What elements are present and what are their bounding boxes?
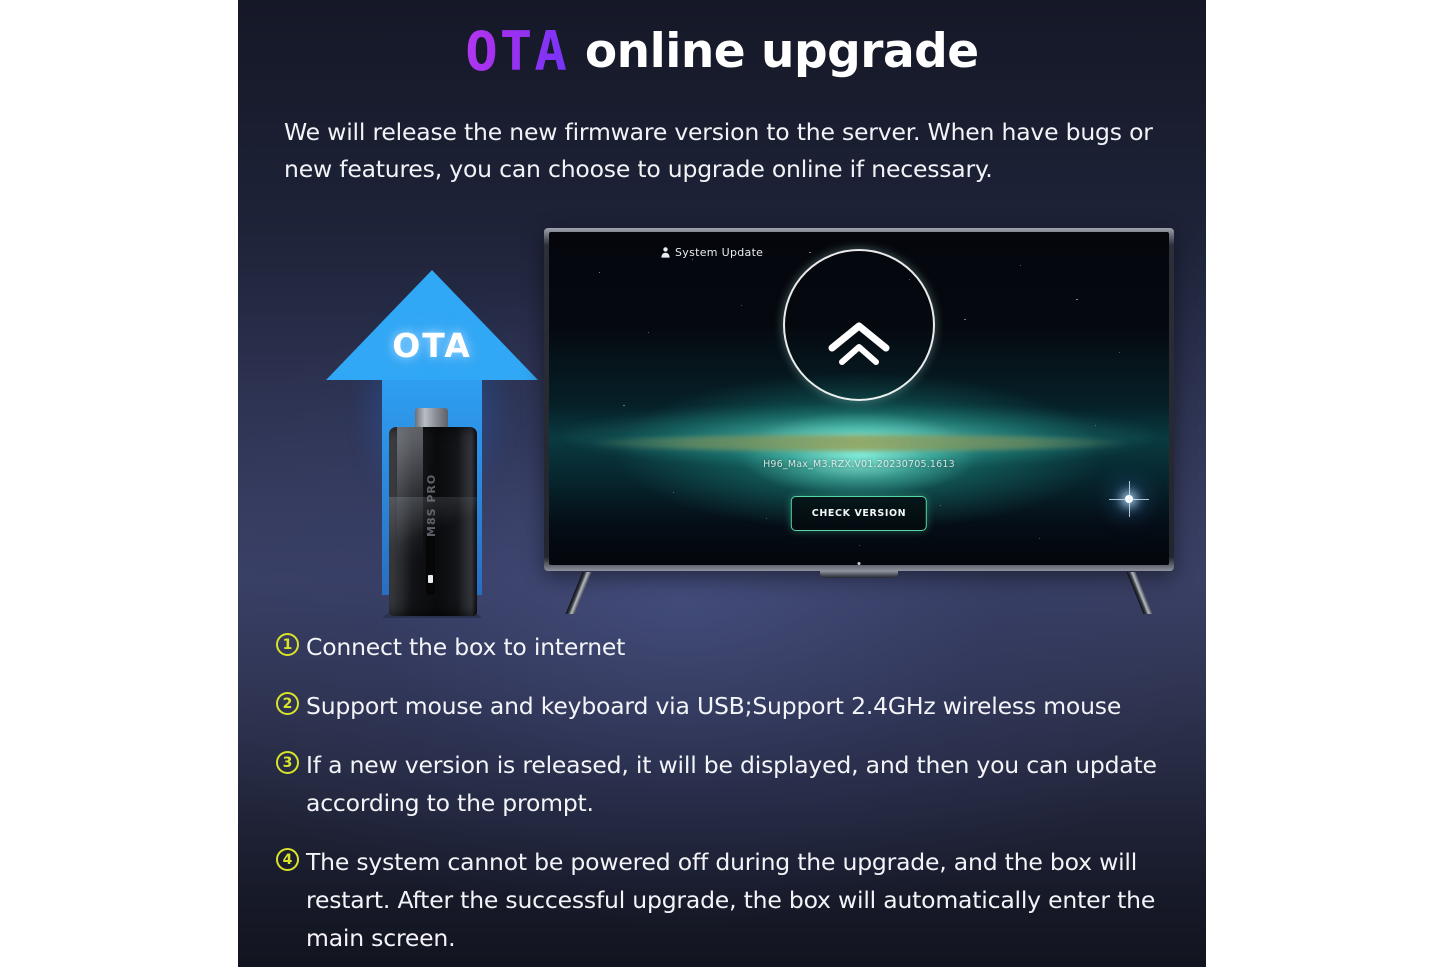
list-item: 1 Connect the box to internet: [276, 628, 1181, 666]
arrow-ota-label: OTA: [326, 326, 538, 365]
step-number-badge: 1: [276, 633, 299, 656]
device-slot: [426, 535, 435, 595]
title-brand-ota: OTA: [465, 20, 569, 83]
step-text: Connect the box to internet: [306, 628, 625, 666]
ota-arrow-graphic: OTA M8S PRO: [326, 268, 541, 618]
step-number-badge: 2: [276, 692, 299, 715]
hdmi-connector: [415, 408, 448, 428]
tv-indicator-led: [858, 562, 861, 565]
device-brand-label: M8S PRO: [425, 474, 438, 537]
step-text: The system cannot be powered off during …: [306, 843, 1181, 957]
steps-list: 1 Connect the box to internet 2 Support …: [276, 628, 1181, 967]
system-update-status: System Update: [661, 246, 763, 259]
intro-paragraph: We will release the new firmware version…: [284, 114, 1174, 188]
list-item: 2 Support mouse and keyboard via USB;Sup…: [276, 687, 1181, 725]
tv-chin: [820, 571, 898, 578]
horizon-band: [586, 435, 1132, 451]
lens-flare: [1125, 495, 1133, 503]
device-led: [428, 575, 433, 583]
page-title: OTAonline upgrade: [238, 20, 1206, 83]
list-item: 4 The system cannot be powered off durin…: [276, 843, 1181, 957]
firmware-version-text: H96_Max_M3.RZX.V01.20230705.1613: [549, 459, 1169, 470]
step-text: If a new version is released, it will be…: [306, 746, 1181, 822]
page-root: OTAonline upgrade We will release the ne…: [0, 0, 1445, 967]
list-item: 3 If a new version is released, it will …: [276, 746, 1181, 822]
content-panel: OTAonline upgrade We will release the ne…: [238, 0, 1206, 967]
tv-bezel: System Update H96_Max_M3.RZX.V01.2023070…: [544, 228, 1174, 571]
step-number-badge: 3: [276, 751, 299, 774]
tv-stick-device: M8S PRO: [389, 408, 477, 616]
tv-leg-right: [1127, 572, 1153, 614]
tv-mockup: System Update H96_Max_M3.RZX.V01.2023070…: [544, 228, 1174, 608]
step-number-badge: 4: [276, 848, 299, 871]
double-chevron-up-icon: [826, 320, 892, 366]
person-icon: [661, 247, 670, 258]
step-text: Support mouse and keyboard via USB;Suppo…: [306, 687, 1121, 725]
title-rest: online upgrade: [585, 24, 979, 79]
system-update-label: System Update: [675, 246, 763, 259]
tv-leg-left: [566, 572, 592, 614]
device-body: M8S PRO: [389, 427, 477, 616]
tv-screen: System Update H96_Max_M3.RZX.V01.2023070…: [549, 232, 1169, 565]
check-version-button[interactable]: CHECK VERSION: [791, 496, 927, 531]
